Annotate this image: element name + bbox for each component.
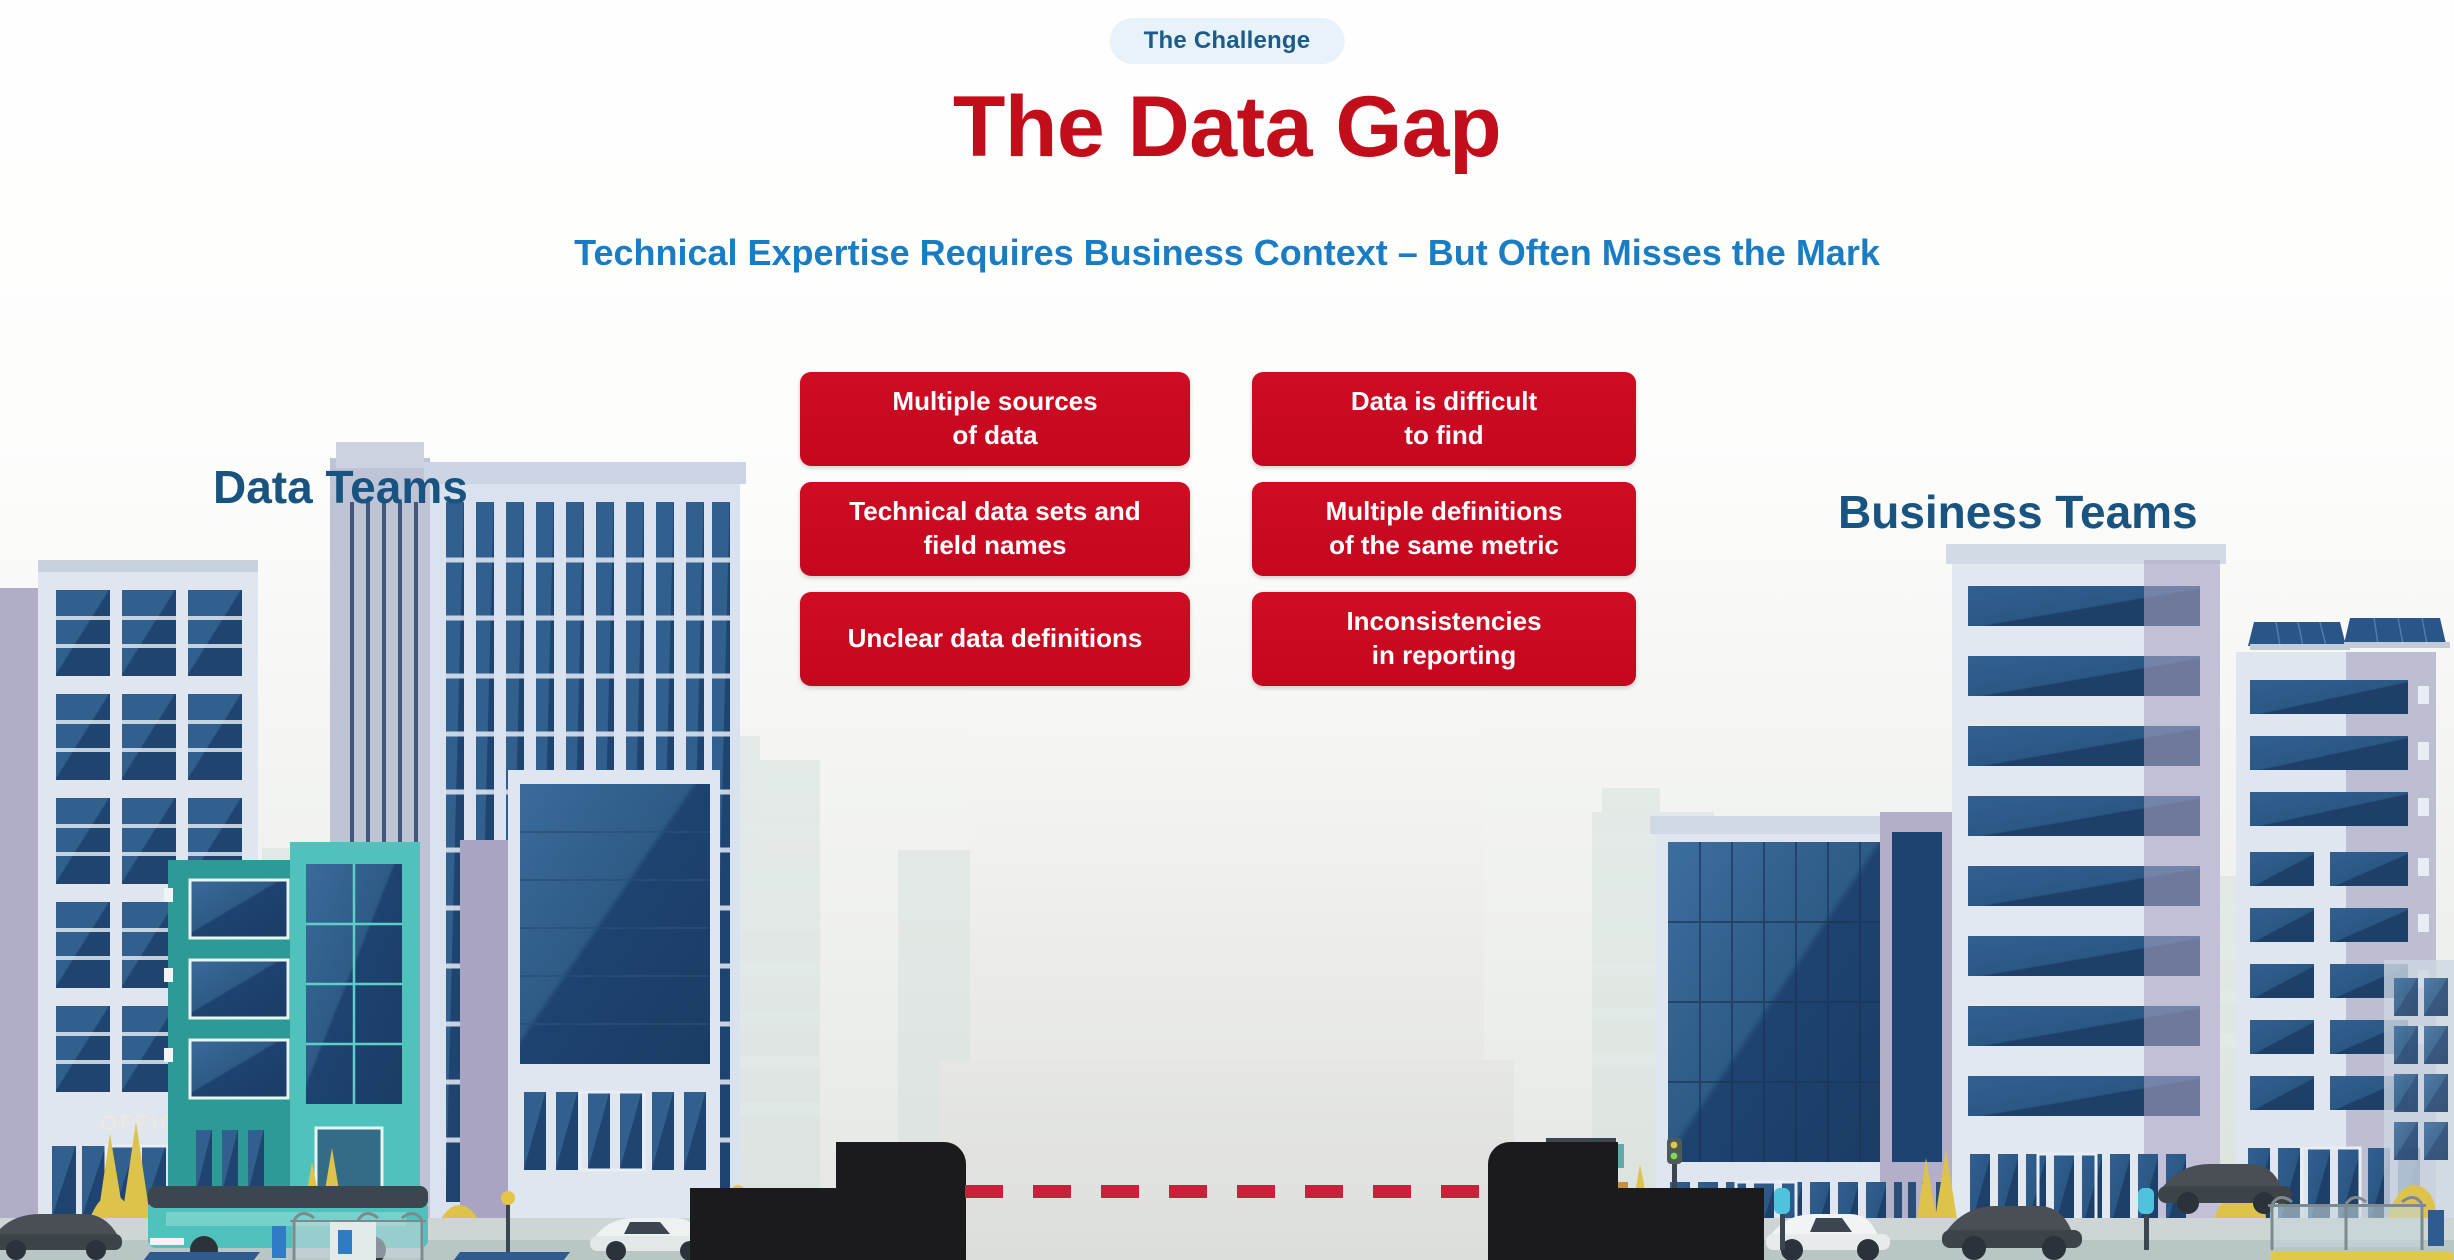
- page-title: The Data Gap: [953, 78, 1501, 177]
- pain-point-box[interactable]: Inconsistencies in reporting: [1252, 592, 1636, 686]
- pain-point-boxes: Multiple sources of data Technical data …: [800, 372, 1636, 686]
- red-dashed-gap-line: [965, 1185, 1489, 1198]
- pain-point-box[interactable]: Technical data sets and field names: [800, 482, 1190, 576]
- yellow-curb: [2270, 1252, 2454, 1260]
- cliff-left-lower: [690, 1188, 850, 1260]
- pain-point-box[interactable]: Data is difficult to find: [1252, 372, 1636, 466]
- pain-point-box[interactable]: Unclear data definitions: [800, 592, 1190, 686]
- pain-point-column-left: Multiple sources of data Technical data …: [800, 372, 1190, 686]
- kiosk: [330, 1222, 376, 1260]
- label-data-teams: Data Teams: [213, 460, 468, 514]
- bus-shelter-right: [2268, 1197, 2444, 1250]
- slide-canvas: OFFICE: [0, 0, 2454, 1260]
- gap-ground: [940, 1060, 1514, 1260]
- page-subtitle: Technical Expertise Requires Business Co…: [574, 232, 1880, 274]
- cliff-right: [1488, 1142, 1618, 1260]
- glass-office-block: [460, 770, 720, 1260]
- pain-point-box[interactable]: Multiple sources of data: [800, 372, 1190, 466]
- rooftop-solar-panels: [2248, 618, 2450, 650]
- banded-tower-a: [1946, 544, 2226, 1260]
- cliff-right-lower: [1604, 1188, 1764, 1260]
- pain-point-column-right: Data is difficult to find Multiple defin…: [1252, 372, 1636, 686]
- cliff-left: [836, 1142, 966, 1260]
- label-business-teams: Business Teams: [1838, 485, 2198, 539]
- pain-point-box[interactable]: Multiple definitions of the same metric: [1252, 482, 1636, 576]
- challenge-badge: The Challenge: [1110, 18, 1345, 64]
